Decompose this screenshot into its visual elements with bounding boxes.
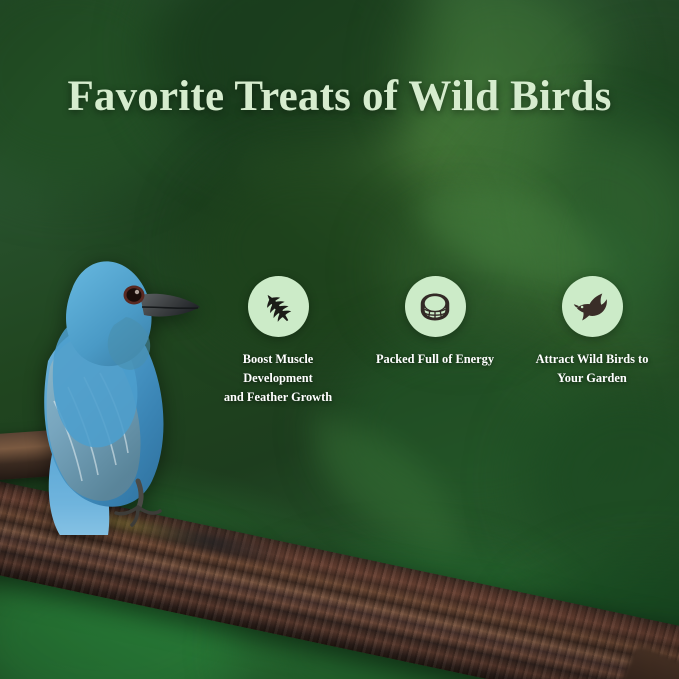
product-hero-image: Favorite Treats of Wild Birds [0, 0, 679, 679]
feature-item: Boost Muscle Development and Feather Gro… [205, 276, 351, 407]
page-title: Favorite Treats of Wild Birds [0, 72, 679, 121]
feature-label: Attract Wild Birds to Your Garden [536, 350, 649, 388]
suet-ball-net-icon [416, 288, 454, 326]
feature-item: Packed Full of Energy [362, 276, 508, 369]
feature-label: Packed Full of Energy [376, 350, 494, 369]
feature-badge [562, 276, 623, 337]
feature-list: Boost Muscle Development and Feather Gro… [205, 276, 665, 416]
feature-label: Boost Muscle Development and Feather Gro… [224, 350, 332, 407]
flying-bird-icon [573, 288, 611, 326]
feature-badge [248, 276, 309, 337]
feature-badge [405, 276, 466, 337]
feather-icon [259, 288, 297, 326]
feature-item: Attract Wild Birds to Your Garden [519, 276, 665, 388]
